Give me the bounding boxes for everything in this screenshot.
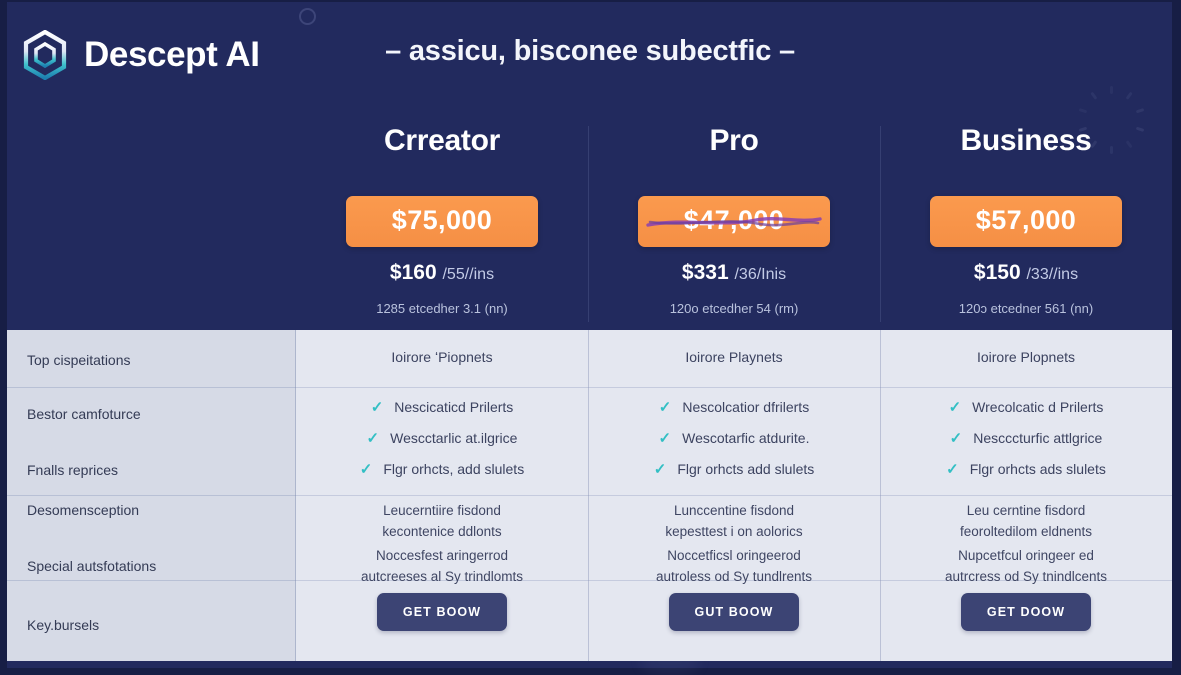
get-started-button[interactable]: GET DOOW [961, 593, 1091, 631]
plan-column-creator: Crreator $75,000 $160 /55//ins 1285 etce… [296, 120, 588, 330]
note-block: Noccesfest aringerrod autcreeses al Sy t… [296, 546, 588, 588]
note-line: Noccesfest aringerrod [296, 546, 588, 567]
row-divider [7, 580, 296, 581]
price-unit: /55//ins [442, 266, 494, 283]
price-badge-wrap: $75,000 [346, 196, 538, 247]
row-divider [588, 495, 880, 496]
check-row: ✓ Flgr orhcts add slulets [588, 461, 880, 477]
check-row: ✓ Nescolcatior dfrilerts [588, 399, 880, 415]
price-note: 120o etcedher 54 (rm) [588, 301, 880, 316]
get-started-button[interactable]: GUT BOOW [669, 593, 800, 631]
plan-name: Pro [588, 124, 880, 158]
row-divider [880, 495, 1172, 496]
feature-label: Fnalls reprices [27, 462, 118, 478]
price-badge: $47,000 [638, 196, 830, 247]
feature-label-column: Top cispeitations Bestor camfoturce Fnal… [7, 330, 296, 661]
price-badge-wrap: $57,000 [930, 196, 1122, 247]
brand-name: Descept AI [84, 35, 260, 75]
plan-column-pro: Pro $47,000 $331 /36/Inis 120o etcedher … [588, 120, 880, 330]
price-note: 120ɔ etcedner 561 (nn) [880, 301, 1172, 316]
check-icon: ✓ [360, 462, 373, 477]
check-icon: ✓ [950, 431, 963, 446]
price-amount: $160 [390, 261, 437, 284]
check-icon: ✓ [946, 462, 959, 477]
check-label: Nescccturfic attlgrice [973, 430, 1102, 446]
check-row: ✓ Nescicaticd Prilerts [296, 399, 588, 415]
frame-edge-bottom [0, 668, 1181, 675]
check-row: ✓ Nescccturfic attlgrice [880, 430, 1172, 446]
note-line: feoroltedilom eldnents [880, 522, 1172, 543]
check-icon: ✓ [949, 400, 962, 415]
price-sub: $150 /33//ins [880, 261, 1172, 285]
value-column-heading: Ioirore ʻPiopnets [296, 349, 588, 365]
price-sub: $160 /55//ins [296, 261, 588, 285]
plan-value-columns: Ioirore ʻPiopnets ✓ Nescicaticd Prilerts… [296, 330, 1172, 661]
get-started-button[interactable]: GET BOOW [377, 593, 507, 631]
note-block: Lunccentine fisdond kepesttest i on aolo… [588, 501, 880, 543]
price-unit: /33//ins [1026, 266, 1078, 283]
check-label: Flgr orhcts add slulets [677, 461, 814, 477]
value-column-pro: Ioirore Playnets ✓ Nescolcatior dfrilert… [588, 330, 880, 661]
row-divider [7, 387, 296, 388]
feature-label: Desomensception [27, 502, 139, 518]
hexagon-logo-icon [22, 30, 68, 80]
slide-header: Descept AI – assicu, bisconee subectfic … [0, 30, 1181, 100]
value-column-heading: Ioirore Plopnets [880, 349, 1172, 365]
note-line: autroless od Sy tundlrents [588, 567, 880, 588]
feature-label: Top cispeitations [27, 352, 131, 368]
check-label: Wrecolcatic d Prilerts [972, 399, 1103, 415]
note-block: Noccetficsl oringeerod autroless od Sy t… [588, 546, 880, 588]
price-sub: $331 /36/Inis [588, 261, 880, 285]
row-divider [296, 387, 588, 388]
note-line: autrcress od Sy tnindlcents [880, 567, 1172, 588]
check-label: Wescotarfic atdurite. [682, 430, 809, 446]
price-badge: $57,000 [930, 196, 1122, 247]
price-unit: /36/Inis [734, 266, 786, 283]
value-column-business: Ioirore Plopnets ✓ Wrecolcatic d Prilert… [880, 330, 1172, 661]
check-label: Nescolcatior dfrilerts [682, 399, 809, 415]
cta-wrap: GET DOOW [880, 593, 1172, 631]
note-line: Lunccentine fisdond [588, 501, 880, 522]
check-icon: ✓ [367, 431, 380, 446]
price-amount: $331 [682, 261, 729, 284]
price-badge: $75,000 [346, 196, 538, 247]
row-divider [7, 495, 296, 496]
check-icon: ✓ [371, 400, 384, 415]
value-column-heading: Ioirore Playnets [588, 349, 880, 365]
headline: – assicu, bisconee subectfic – [330, 35, 850, 68]
cta-wrap: GET BOOW [296, 593, 588, 631]
check-label: Wescctarlic at.ilgrice [390, 430, 517, 446]
plan-column-business: Business $57,000 $150 /33//ins 120ɔ etce… [880, 120, 1172, 330]
row-divider [880, 387, 1172, 388]
note-line: Leu cerntine fisdord [880, 501, 1172, 522]
note-line: autcreeses al Sy trindlomts [296, 567, 588, 588]
plan-columns: Crreator $75,000 $160 /55//ins 1285 etce… [296, 120, 1172, 330]
check-row: ✓ Wescotarfic atdurite. [588, 430, 880, 446]
frame-edge-right [1172, 0, 1181, 675]
row-divider [588, 387, 880, 388]
note-block: Leucerntiire fisdond kecontenice ddlonts [296, 501, 588, 543]
check-row: ✓ Flgr orhcts, add slulets [296, 461, 588, 477]
feature-label: Special autsfotations [27, 558, 156, 574]
check-icon: ✓ [659, 431, 672, 446]
check-label: Flgr orhcts ads slulets [970, 461, 1106, 477]
circle-outline-icon [299, 8, 316, 25]
feature-label: Key.bursels [27, 617, 99, 633]
row-divider [296, 495, 588, 496]
note-line: Nupcetfcul oringeer ed [880, 546, 1172, 567]
price-badge-wrap: $47,000 [638, 196, 830, 247]
plan-name: Crreator [296, 124, 588, 158]
check-label: Flgr orhcts, add slulets [383, 461, 524, 477]
brand: Descept AI [22, 30, 260, 80]
comparison-table: Top cispeitations Bestor camfoturce Fnal… [7, 330, 1172, 661]
note-block: Nupcetfcul oringeer ed autrcress od Sy t… [880, 546, 1172, 588]
note-line: Leucerntiire fisdond [296, 501, 588, 522]
note-line: kecontenice ddlonts [296, 522, 588, 543]
check-row: ✓ Flgr orhcts ads slulets [880, 461, 1172, 477]
frame-edge-left [0, 0, 7, 675]
note-line: Noccetficsl oringeerod [588, 546, 880, 567]
pricing-slide: Descept AI – assicu, bisconee subectfic … [0, 0, 1181, 675]
note-block: Leu cerntine fisdord feoroltedilom eldne… [880, 501, 1172, 543]
check-label: Nescicaticd Prilerts [394, 399, 513, 415]
plan-name: Business [880, 124, 1172, 158]
price-note: 1285 etcedher 3.1 (nn) [296, 301, 588, 316]
check-row: ✓ Wrecolcatic d Prilerts [880, 399, 1172, 415]
price-amount: $150 [974, 261, 1021, 284]
check-icon: ✓ [654, 462, 667, 477]
value-column-creator: Ioirore ʻPiopnets ✓ Nescicaticd Prilerts… [296, 330, 588, 661]
frame-edge-top [0, 0, 1181, 2]
check-icon: ✓ [659, 400, 672, 415]
check-row: ✓ Wescctarlic at.ilgrice [296, 430, 588, 446]
feature-label: Bestor camfoturce [27, 406, 141, 422]
note-line: kepesttest i on aolorics [588, 522, 880, 543]
cta-wrap: GUT BOOW [588, 593, 880, 631]
